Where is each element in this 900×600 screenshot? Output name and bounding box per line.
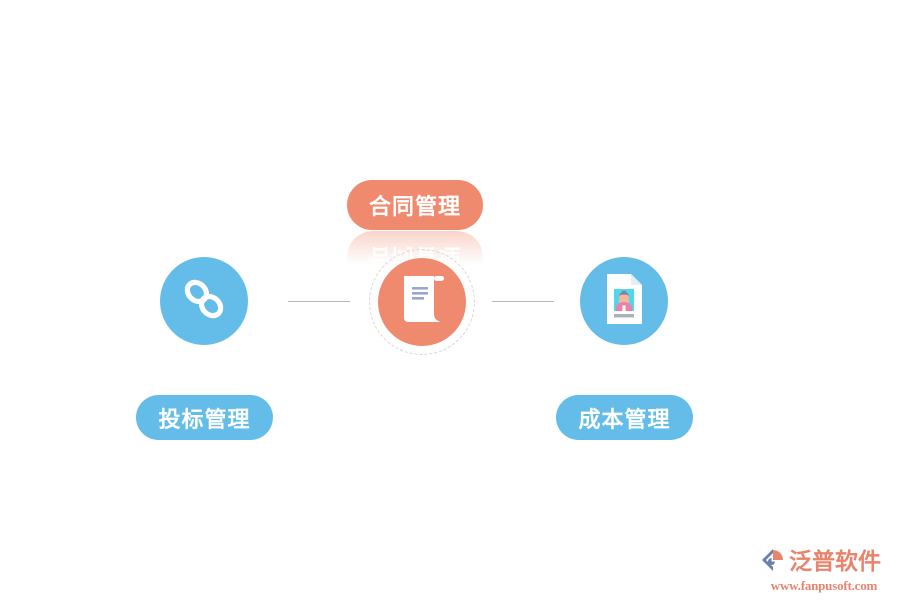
- connector-bidding-to-contract: [288, 301, 350, 302]
- watermark-brand-row: 泛普软件: [760, 547, 888, 576]
- id-card-document-icon: [602, 272, 646, 331]
- connector-contract-to-cost: [492, 301, 554, 302]
- node-label-bidding-management-text: 投标管理: [158, 402, 250, 434]
- diagram-stage: 合同管理 合同管理: [0, 0, 900, 600]
- node-label-cost-management[interactable]: 成本管理: [556, 395, 693, 440]
- node-circle-contract[interactable]: [378, 258, 466, 346]
- chain-link-icon: [180, 275, 228, 328]
- fanpu-logo-icon: [760, 547, 786, 576]
- node-circle-cost[interactable]: [580, 257, 668, 345]
- node-circle-bidding[interactable]: [160, 257, 248, 345]
- node-label-bidding-management[interactable]: 投标管理: [136, 395, 273, 440]
- node-label-contract-management[interactable]: 合同管理: [347, 180, 483, 230]
- watermark: 泛普软件 www.fanpusoft.com: [760, 547, 888, 592]
- watermark-url-text: www.fanpusoft.com: [760, 579, 888, 592]
- node-label-contract-management-text: 合同管理: [369, 189, 461, 221]
- node-label-cost-management-text: 成本管理: [578, 402, 670, 434]
- watermark-brand-text: 泛普软件: [789, 550, 881, 573]
- scroll-document-icon: [396, 272, 448, 333]
